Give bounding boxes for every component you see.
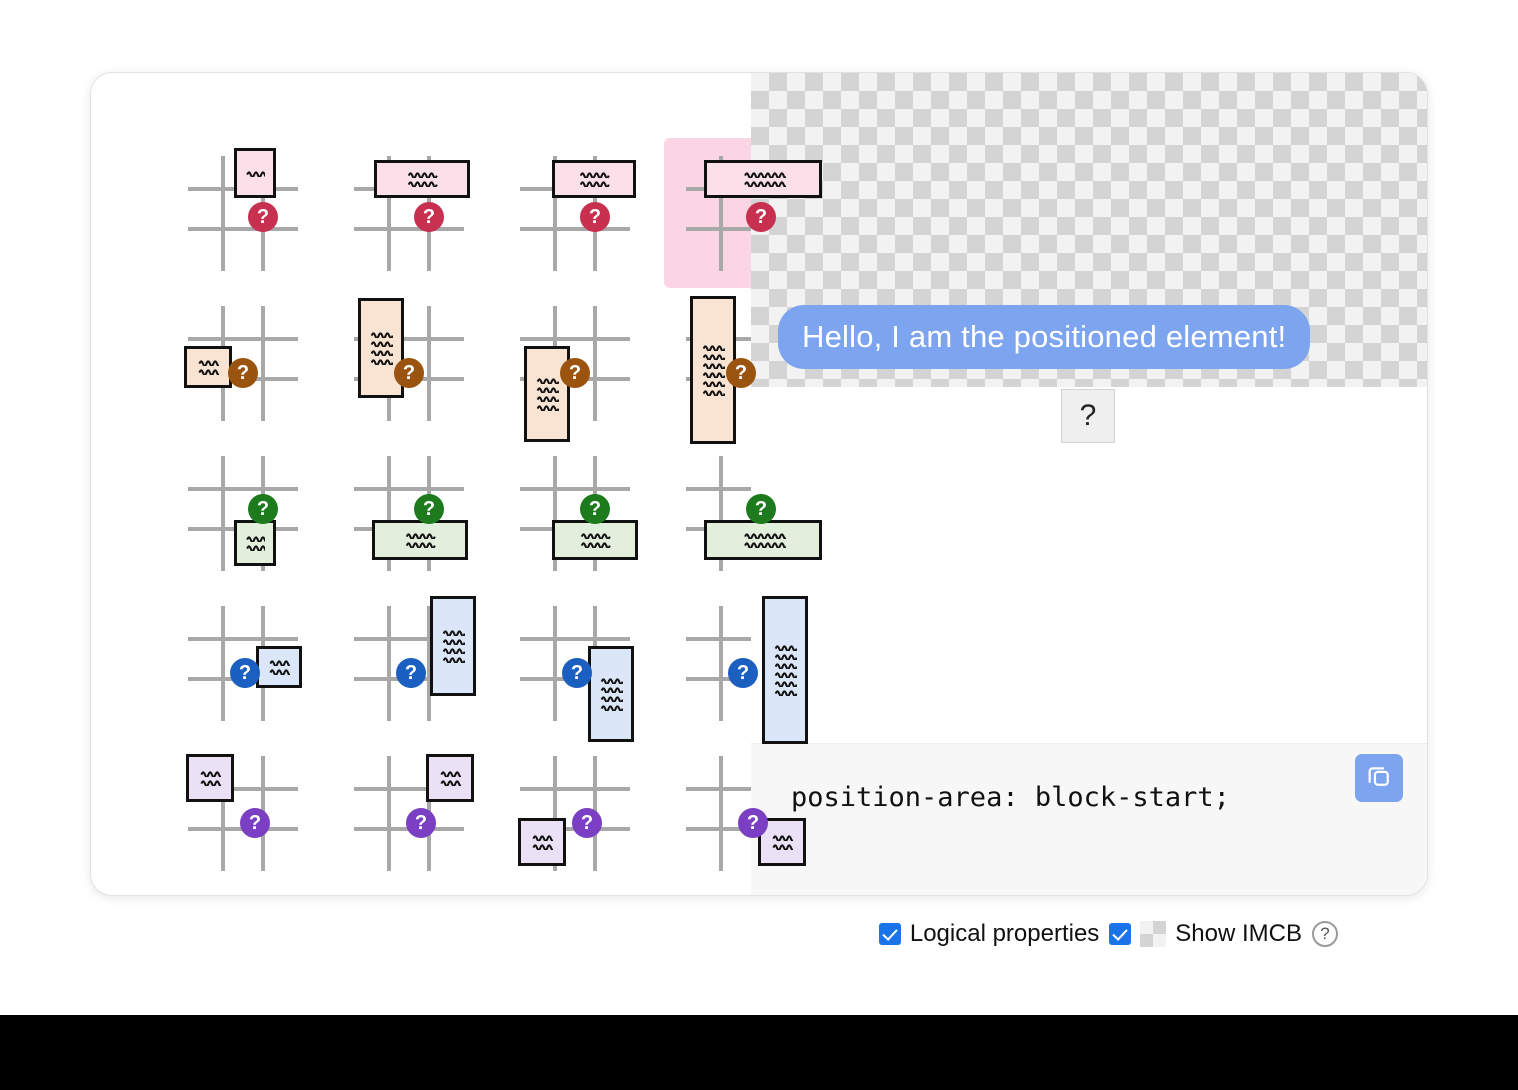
anchor-question-icon: ? [738,808,768,838]
picker-cell[interactable]: ? [332,288,498,438]
logical-properties-checkbox[interactable] [879,923,901,945]
picker-cell[interactable]: ? [498,288,664,438]
app-stage: ???????????????????? Hello, I am the pos… [0,0,1518,1015]
imcb-swatch-icon [1140,921,1166,947]
anchor-question-icon: ? [746,202,776,232]
picker-cell[interactable]: ? [166,438,332,588]
options-bar: Logical properties Show IMCB ? [0,920,1428,948]
picker-cell[interactable]: ? [498,138,664,288]
positioned-box [374,160,470,198]
positioned-box [430,596,476,696]
code-panel: position-area: block-start; [751,743,1427,895]
positioned-box [234,148,276,198]
anchor-question-icon: ? [572,808,602,838]
anchor-question-icon: ? [560,358,590,388]
anchor-question-icon: ? [726,358,756,388]
picker-cell[interactable]: ? [498,738,664,888]
anchor-question-icon: ? [562,658,592,688]
picker-cell[interactable]: ? [332,588,498,738]
anchor-question-icon: ? [228,358,258,388]
picker-cell[interactable]: ? [166,138,332,288]
anchor-question-icon: ? [394,358,424,388]
anchor-question-icon: ? [746,494,776,524]
anchor-question-icon: ? [580,202,610,232]
positioned-box [552,520,638,560]
anchor-question-icon: ? [406,808,436,838]
picker-cell[interactable]: ? [166,588,332,738]
positioned-box [184,346,232,388]
help-circle-icon[interactable]: ? [1312,921,1338,947]
preview-panel: Hello, I am the positioned element! ? po… [751,73,1427,895]
picker-grid: ???????????????????? [166,138,830,888]
show-imcb-checkbox[interactable] [1109,923,1131,945]
css-declaration: position-area: block-start; [791,782,1230,813]
anchor-question-icon: ? [248,202,278,232]
picker-cell[interactable]: ? [498,588,664,738]
positioned-box [704,520,822,560]
anchor-question-icon: ? [396,658,426,688]
positioned-box [524,346,570,442]
positioned-box [588,646,634,742]
positioned-element-bubble: Hello, I am the positioned element! [778,305,1310,369]
copy-button[interactable] [1355,754,1403,802]
demo-card: ???????????????????? Hello, I am the pos… [90,72,1428,896]
anchor-question-icon: ? [728,658,758,688]
positioned-box [426,754,474,802]
picker-cell[interactable]: ? [332,738,498,888]
picker-cell[interactable]: ? [498,438,664,588]
anchor-question-icon: ? [248,494,278,524]
copy-icon [1365,762,1393,795]
positioned-box [372,520,468,560]
picker-cell[interactable]: ? [332,438,498,588]
positioned-box [704,160,822,198]
anchor-question-icon: ? [414,494,444,524]
picker-cell[interactable]: ? [166,738,332,888]
logical-properties-group[interactable]: Logical properties [879,920,1099,948]
anchor-element[interactable]: ? [1061,389,1115,443]
anchor-question-icon: ? [240,808,270,838]
picker-cell[interactable]: ? [332,138,498,288]
positioned-box [186,754,234,802]
positioned-box [256,646,302,688]
show-imcb-group[interactable]: Show IMCB [1109,920,1302,948]
positioned-box [762,596,808,744]
anchor-question-icon: ? [414,202,444,232]
positioned-box [518,818,566,866]
anchor-question-icon: ? [580,494,610,524]
positioned-box [552,160,636,198]
anchor-question-icon: ? [230,658,260,688]
picker-cell[interactable]: ? [664,588,830,738]
positioned-box [234,520,276,566]
page-bottom-band [0,1015,1518,1090]
position-area-picker: ???????????????????? [91,73,751,895]
show-imcb-label: Show IMCB [1175,920,1302,948]
picker-cell[interactable]: ? [166,288,332,438]
logical-properties-label: Logical properties [910,920,1099,948]
